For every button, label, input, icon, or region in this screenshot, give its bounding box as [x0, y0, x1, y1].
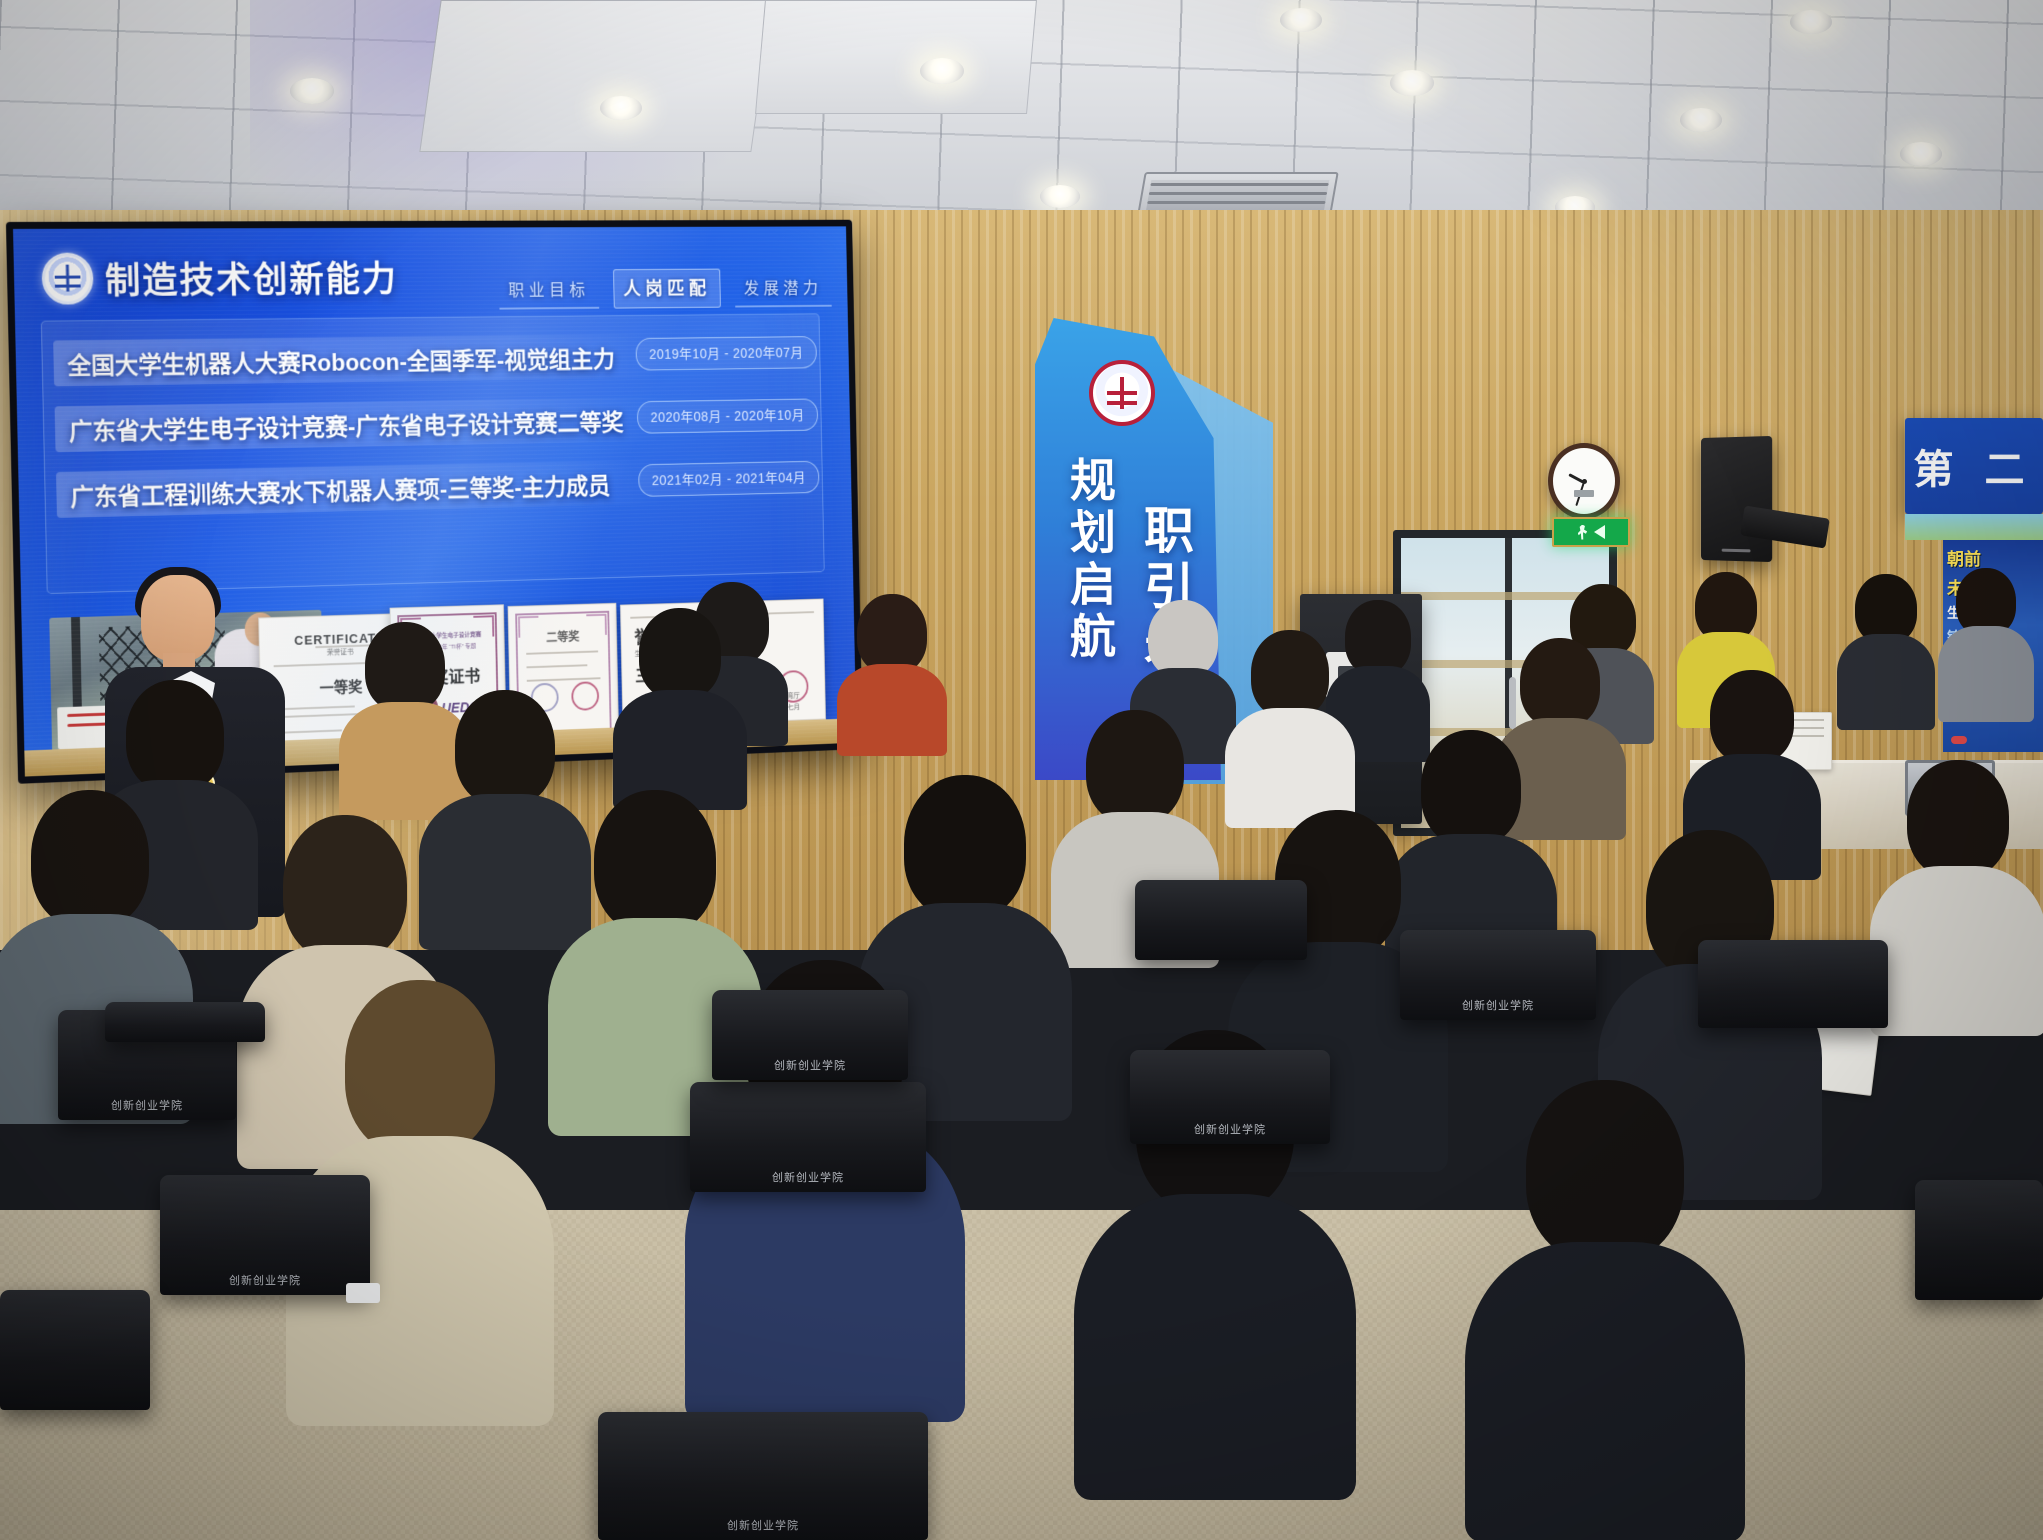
- slide-tabs: 职业目标 人岗匹配 发展潜力: [499, 268, 832, 310]
- person-torso: [1938, 626, 2034, 722]
- ceiling-downlight: [1790, 10, 1832, 34]
- person-torso: [1074, 1194, 1356, 1500]
- chair-label: 创新创业学院: [111, 1097, 183, 1113]
- achievement-date: 2020年08月 - 2020年10月: [636, 398, 818, 433]
- person-head: [857, 594, 927, 674]
- achievement-row: 全国大学生机器人大赛Robocon-全国季军-视觉组主力 2019年10月 - …: [53, 329, 810, 391]
- audience-person: [430, 690, 580, 940]
- chair-label: 创新创业学院: [774, 1057, 846, 1073]
- chair-label: 创新创业学院: [772, 1169, 844, 1185]
- chair-label: 创新创业学院: [1462, 997, 1534, 1013]
- clock-center-pin: [1582, 479, 1587, 484]
- audience: [0, 560, 2043, 1540]
- person-head: [1526, 1080, 1684, 1262]
- tab-person-job-match[interactable]: 人岗匹配: [613, 269, 721, 309]
- person-head: [1710, 670, 1794, 764]
- auditorium-chair[interactable]: 创新创业学院: [712, 990, 908, 1080]
- audience-person: [1230, 630, 1350, 820]
- person-head: [1345, 600, 1411, 676]
- ceiling-downlight: [1280, 8, 1322, 32]
- auditorium-chair[interactable]: [1135, 880, 1307, 960]
- running-man-icon: [1578, 525, 1590, 540]
- hall-banner-text: 第 二: [1913, 437, 2034, 495]
- auditorium-chair[interactable]: 创新创业学院: [598, 1412, 928, 1540]
- ceiling-downlight: [920, 58, 964, 84]
- chair-label: 创新创业学院: [727, 1517, 799, 1533]
- ceiling-downlight: [1040, 185, 1080, 208]
- emergency-exit-sign: [1552, 517, 1630, 547]
- ceiling-downlight: [290, 78, 334, 104]
- chair-writing-tray: [346, 1283, 380, 1303]
- audience-person: [620, 608, 740, 798]
- person-head: [1421, 730, 1521, 846]
- person-head: [904, 775, 1026, 919]
- chair-label: 创新创业学院: [229, 1272, 301, 1288]
- university-emblem-icon: [41, 253, 93, 305]
- clock-date-window: [1574, 490, 1594, 497]
- person-torso: [1837, 634, 1935, 730]
- person-head: [594, 790, 716, 934]
- achievement-list: 全国大学生机器人大赛Robocon-全国季军-视觉组主力 2019年10月 - …: [53, 329, 813, 534]
- auditorium-chair[interactable]: 创新创业学院: [690, 1082, 926, 1192]
- ceiling-downlight: [600, 96, 642, 120]
- achievement-row: 广东省工程训练大赛水下机器人赛项-三等奖-主力成员 2021年02月 - 202…: [56, 453, 813, 522]
- person-torso: [837, 664, 947, 756]
- person-head: [1907, 760, 2009, 878]
- audience-person: [1480, 1080, 1730, 1520]
- wall-speaker: [1701, 436, 1772, 562]
- person-head: [126, 680, 224, 792]
- ceiling-downlight: [1900, 142, 1942, 166]
- auditorium-chair[interactable]: [1698, 940, 1888, 1028]
- person-head: [639, 608, 721, 700]
- audience-person: [1880, 760, 2036, 1030]
- audience-person: [1840, 574, 1932, 724]
- tab-development-potential[interactable]: 发展潜力: [735, 270, 832, 308]
- audience-person: [1940, 568, 2032, 718]
- auditorium-chair[interactable]: 创新创业学院: [160, 1175, 370, 1295]
- hall-banner: 第 二: [1905, 418, 2043, 514]
- ceiling-slab: [419, 0, 772, 152]
- slide-title: 制造技术创新能力: [104, 251, 398, 304]
- person-head: [1520, 638, 1600, 728]
- person-head: [1148, 600, 1218, 678]
- auditorium-chair[interactable]: [1915, 1180, 2043, 1300]
- speaker-brand-mark: [1722, 549, 1751, 553]
- conference-hall-photo: 制造技术创新能力 职业目标 人岗匹配 发展潜力 全国大学生机器人大赛Roboco…: [0, 0, 2043, 1540]
- person-head: [1086, 710, 1184, 824]
- person-head: [345, 980, 495, 1156]
- person-head: [283, 815, 407, 961]
- auditorium-chair[interactable]: [105, 1002, 265, 1042]
- auditorium-chair[interactable]: 创新创业学院: [1130, 1050, 1330, 1144]
- auditorium-chair[interactable]: 创新创业学院: [1400, 930, 1596, 1020]
- audience-person: [840, 594, 944, 744]
- achievement-date: 2019年10月 - 2020年07月: [635, 336, 817, 371]
- hall-banner-strip: [1905, 514, 2043, 540]
- university-emblem-icon: [1089, 360, 1155, 426]
- person-torso: [1870, 866, 2043, 1036]
- ceiling-downlight: [1680, 108, 1722, 132]
- person-torso: [1465, 1242, 1745, 1540]
- ceiling-slab: [755, 0, 1037, 114]
- achievement-row: 广东省大学生电子设计竞赛-广东省电子设计竞赛二等奖 2020年08月 - 202…: [54, 391, 811, 456]
- auditorium-chair[interactable]: [0, 1290, 150, 1410]
- person-head: [1251, 630, 1329, 718]
- person-head: [455, 690, 555, 806]
- arrow-right-icon: [1594, 525, 1605, 539]
- achievement-date: 2021年02月 - 2021年04月: [638, 461, 820, 497]
- tab-career-goal[interactable]: 职业目标: [499, 271, 599, 309]
- chair-label: 创新创业学院: [1194, 1121, 1266, 1137]
- wall-clock: [1548, 443, 1620, 519]
- ceiling-downlight: [1390, 70, 1434, 96]
- person-head: [31, 790, 149, 928]
